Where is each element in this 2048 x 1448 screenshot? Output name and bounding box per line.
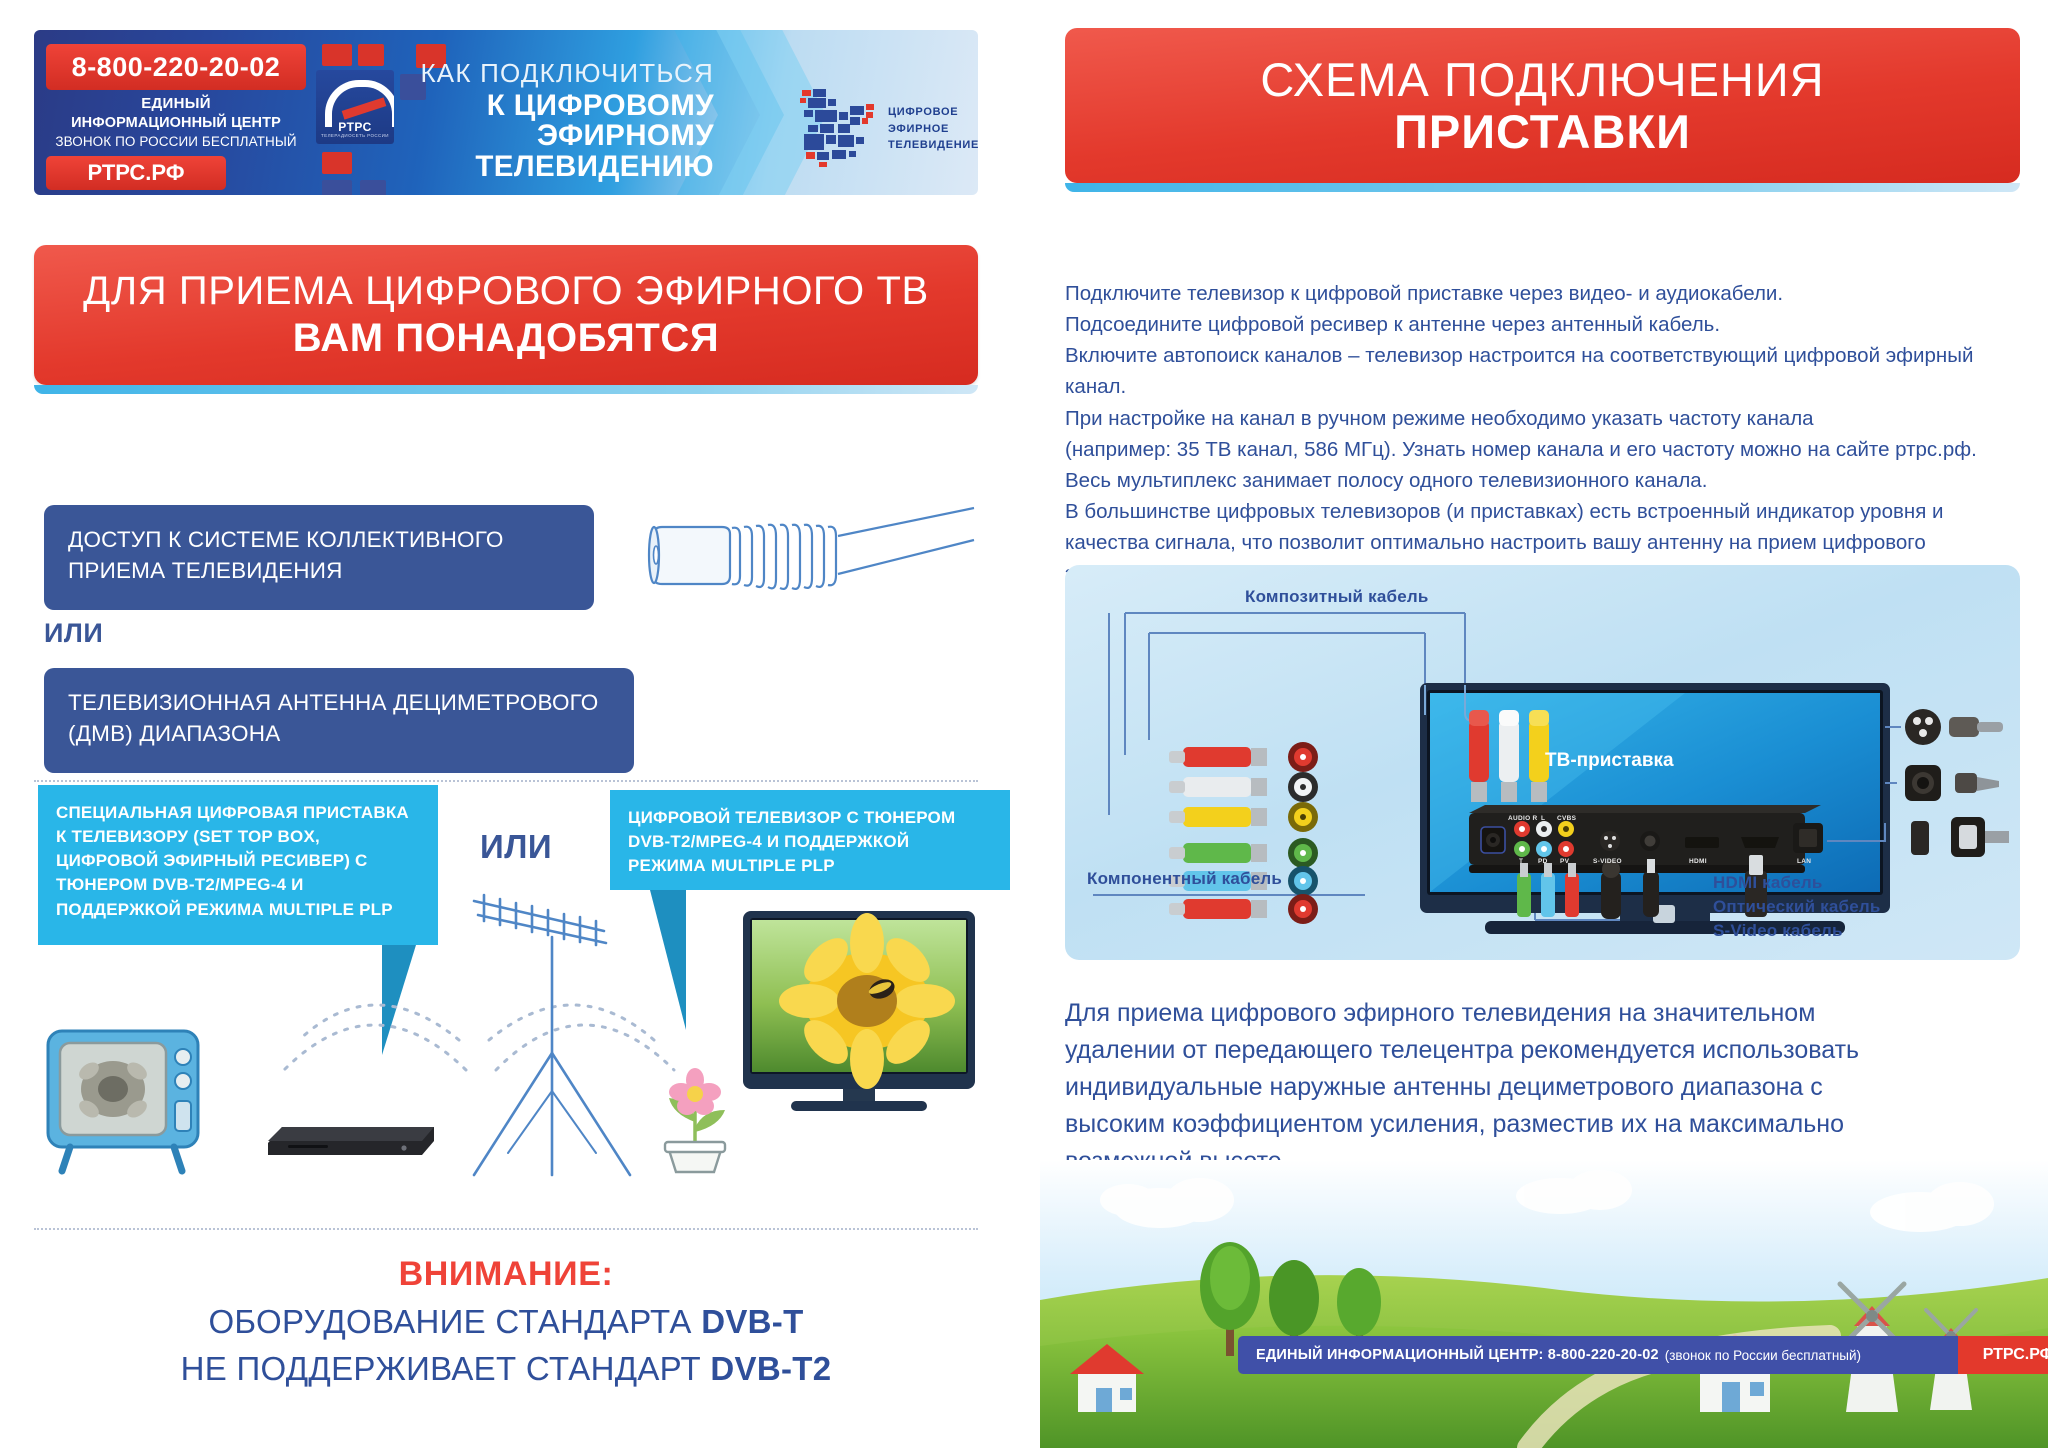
intro-line: качества сигнала, что позволит оптимальн… — [1065, 527, 2025, 558]
header-banner: 8-800-220-20-02 ЕДИНЫЙ ИНФОРМАЦИОННЫЙ ЦЕ… — [34, 30, 978, 195]
port-label-lan: LAN — [1797, 858, 1811, 865]
port-label-pv: PV — [1560, 858, 1569, 865]
phone-badge: 8-800-220-20-02 — [46, 44, 306, 90]
outro-line: высоким коэффициентом усиления, размести… — [1065, 1106, 1965, 1143]
old-tv-illustration — [44, 1025, 224, 1175]
square-decoration-icon — [322, 44, 352, 66]
connection-diagram-panel: Композитный кабель Компонентный кабель H… — [1065, 565, 2020, 960]
intro-line: В большинстве цифровых телевизоров (и пр… — [1065, 496, 2025, 527]
banner-title-line3: ТЕЛЕВИДЕНИЮ — [404, 152, 714, 182]
port-label-t: T — [1519, 858, 1523, 865]
footer-bar: ЕДИНЫЙ ИНФОРМАЦИОННЫЙ ЦЕНТР: 8-800-220-2… — [1238, 1336, 2048, 1374]
butterfly-icon — [792, 78, 884, 170]
attention-line1: ОБОРУДОВАНИЕ СТАНДАРТА DVB-T — [34, 1303, 978, 1341]
right-red-heading-tail — [1065, 183, 2020, 192]
left-red-heading: ДЛЯ ПРИЕМА ЦИФРОВОГО ЭФИРНОГО ТВ ВАМ ПОН… — [34, 245, 978, 385]
right-red-heading: СХЕМА ПОДКЛЮЧЕНИЯ ПРИСТАВКИ — [1065, 28, 2020, 183]
rtrs-site-badge: РТРС.РФ — [46, 156, 226, 190]
intro-line: Включите автопоиск каналов – телевизор н… — [1065, 340, 2025, 371]
intro-text-block: Подключите телевизор к цифровой приставк… — [1065, 278, 2025, 590]
attention-line2: НЕ ПОДДЕРЖИВАЕТ СТАНДАРТ DVB-T2 — [34, 1350, 978, 1388]
butterfly-logo: ЦИФРОВОЕ ЭФИРНОЕ ТЕЛЕВИДЕНИЕ — [792, 78, 972, 170]
attention-line1-standard: DVB-T — [701, 1303, 803, 1340]
intro-line: Весь мультиплекс занимает полосу одного … — [1065, 465, 2025, 496]
info-center-line1: ЕДИНЫЙ — [46, 94, 306, 114]
divider-dotted-bottom — [34, 1228, 978, 1230]
info-center-line2: ИНФОРМАЦИОННЫЙ ЦЕНТР — [46, 114, 306, 133]
rtrs-logo-icon: РТРС ТЕЛЕРАДИОСЕТЬ РОССИИ — [316, 70, 394, 144]
intro-line: (например: 35 ТВ канал, 586 МГц). Узнать… — [1065, 434, 2025, 465]
square-decoration-icon — [358, 44, 384, 66]
attention-line2-standard: DVB-T2 — [710, 1350, 831, 1387]
info-center-block: ЕДИНЫЙ ИНФОРМАЦИОННЫЙ ЦЕНТР ЗВОНОК ПО РО… — [46, 94, 306, 151]
left-red-heading-line2: ВАМ ПОНАДОБЯТСЯ — [293, 315, 720, 362]
flat-tv-illustration — [739, 905, 979, 1175]
butterfly-logo-text: ЦИФРОВОЕ ЭФИРНОЕ ТЕЛЕВИДЕНИЕ — [888, 104, 978, 154]
landscape-illustration — [1040, 1160, 2048, 1448]
diagram-label-component: Компонентный кабель — [1087, 869, 1282, 889]
port-label-l: L — [1541, 815, 1545, 822]
outro-line: индивидуальные наружные антенны дециметр… — [1065, 1069, 1965, 1106]
intro-line: При настройке на канал в ручном режиме н… — [1065, 403, 2025, 434]
intro-line: Подключите телевизор к цифровой приставк… — [1065, 278, 2025, 309]
right-column: СХЕМА ПОДКЛЮЧЕНИЯ ПРИСТАВКИ Подключите т… — [1040, 0, 2048, 1448]
banner-title: КАК ПОДКЛЮЧИТЬСЯ К ЦИФРОВОМУ ЭФИРНОМУ ТЕ… — [404, 60, 714, 182]
square-decoration-icon — [322, 180, 352, 195]
footer-info-bold: ЕДИНЫЙ ИНФОРМАЦИОННЫЙ ЦЕНТР: 8-800-220-2… — [1256, 1347, 1659, 1363]
antenna-illustration — [454, 885, 644, 1185]
composite-jacks — [1288, 742, 1318, 832]
left-red-heading-line1: ДЛЯ ПРИЕМА ЦИФРОВОГО ЭФИРНОГО ТВ — [83, 268, 929, 315]
port-label-hdmi: HDMI — [1689, 858, 1707, 865]
diagram-label-optical: Оптический кабель — [1713, 897, 1881, 917]
banner-title-line2: К ЦИФРОВОМУ ЭФИРНОМУ — [404, 91, 714, 152]
footer-info-normal: (звонок по России бесплатный) — [1665, 1348, 1861, 1363]
left-red-heading-tail — [34, 385, 978, 394]
butterfly-text-line2: ЭФИРНОЕ — [888, 121, 978, 138]
composite-plugs — [1169, 747, 1267, 827]
diagram-label-composite: Композитный кабель — [1245, 587, 1429, 607]
potted-plant-illustration — [649, 1050, 739, 1175]
attention-line2-text: НЕ ПОДДЕРЖИВАЕТ СТАНДАРТ — [181, 1350, 711, 1387]
left-illustration — [34, 510, 978, 1220]
coaxial-cable-illustration — [644, 500, 994, 610]
right-red-heading-line1: СХЕМА ПОДКЛЮЧЕНИЯ — [1260, 54, 1824, 106]
butterfly-text-line3: ТЕЛЕВИДЕНИЕ — [888, 137, 978, 154]
rca-cables-on-screen — [1469, 710, 1549, 802]
outro-text-block: Для приема цифрового эфирного телевидени… — [1065, 995, 1965, 1180]
left-column: 8-800-220-20-02 ЕДИНЫЙ ИНФОРМАЦИОННЫЙ ЦЕ… — [0, 0, 1040, 1448]
diagram-label-svideo: S-Video кабель — [1713, 921, 1843, 941]
square-decoration-icon — [360, 180, 386, 195]
rtrs-logo-sublabel: ТЕЛЕРАДИОСЕТЬ РОССИИ — [316, 133, 394, 138]
info-center-line3: ЗВОНОК ПО РОССИИ БЕСПЛАТНЫЙ — [46, 133, 306, 151]
set-top-box-illustration — [264, 1115, 439, 1160]
intro-line: канал. — [1065, 371, 2025, 402]
port-label-pd: PD — [1538, 858, 1548, 865]
intro-line: Подсоедините цифровой ресивер к антенне … — [1065, 309, 2025, 340]
attention-block: ВНИМАНИЕ: ОБОРУДОВАНИЕ СТАНДАРТА DVB-T Н… — [34, 1255, 978, 1388]
attention-line1-text: ОБОРУДОВАНИЕ СТАНДАРТА — [208, 1303, 701, 1340]
port-label-audio-r: AUDIO R — [1508, 815, 1538, 822]
diagram-label-stb-title: ТВ-приставка — [1545, 750, 1674, 772]
banner-title-line1: КАК ПОДКЛЮЧИТЬСЯ — [404, 60, 714, 87]
butterfly-text-line1: ЦИФРОВОЕ — [888, 104, 978, 121]
port-label-svideo: S-VIDEO — [1593, 858, 1622, 865]
diagram-label-hdmi: HDMI кабель — [1713, 873, 1823, 893]
square-decoration-icon — [322, 152, 352, 174]
footer-info-center: ЕДИНЫЙ ИНФОРМАЦИОННЫЙ ЦЕНТР: 8-800-220-2… — [1238, 1336, 1958, 1374]
right-red-heading-line2: ПРИСТАВКИ — [1394, 106, 1691, 158]
outro-line: Для приема цифрового эфирного телевидени… — [1065, 995, 1965, 1032]
port-label-cvbs: CVBS — [1557, 815, 1576, 822]
outro-line: удалении от передающего телецентра реком… — [1065, 1032, 1965, 1069]
right-connector-icons — [1905, 709, 2009, 857]
footer-rtrs-badge: РТРС.РФ — [1958, 1336, 2048, 1374]
component-jacks — [1288, 838, 1318, 924]
rtrs-logo-label: РТРС — [316, 120, 394, 134]
attention-title: ВНИМАНИЕ: — [34, 1255, 978, 1294]
